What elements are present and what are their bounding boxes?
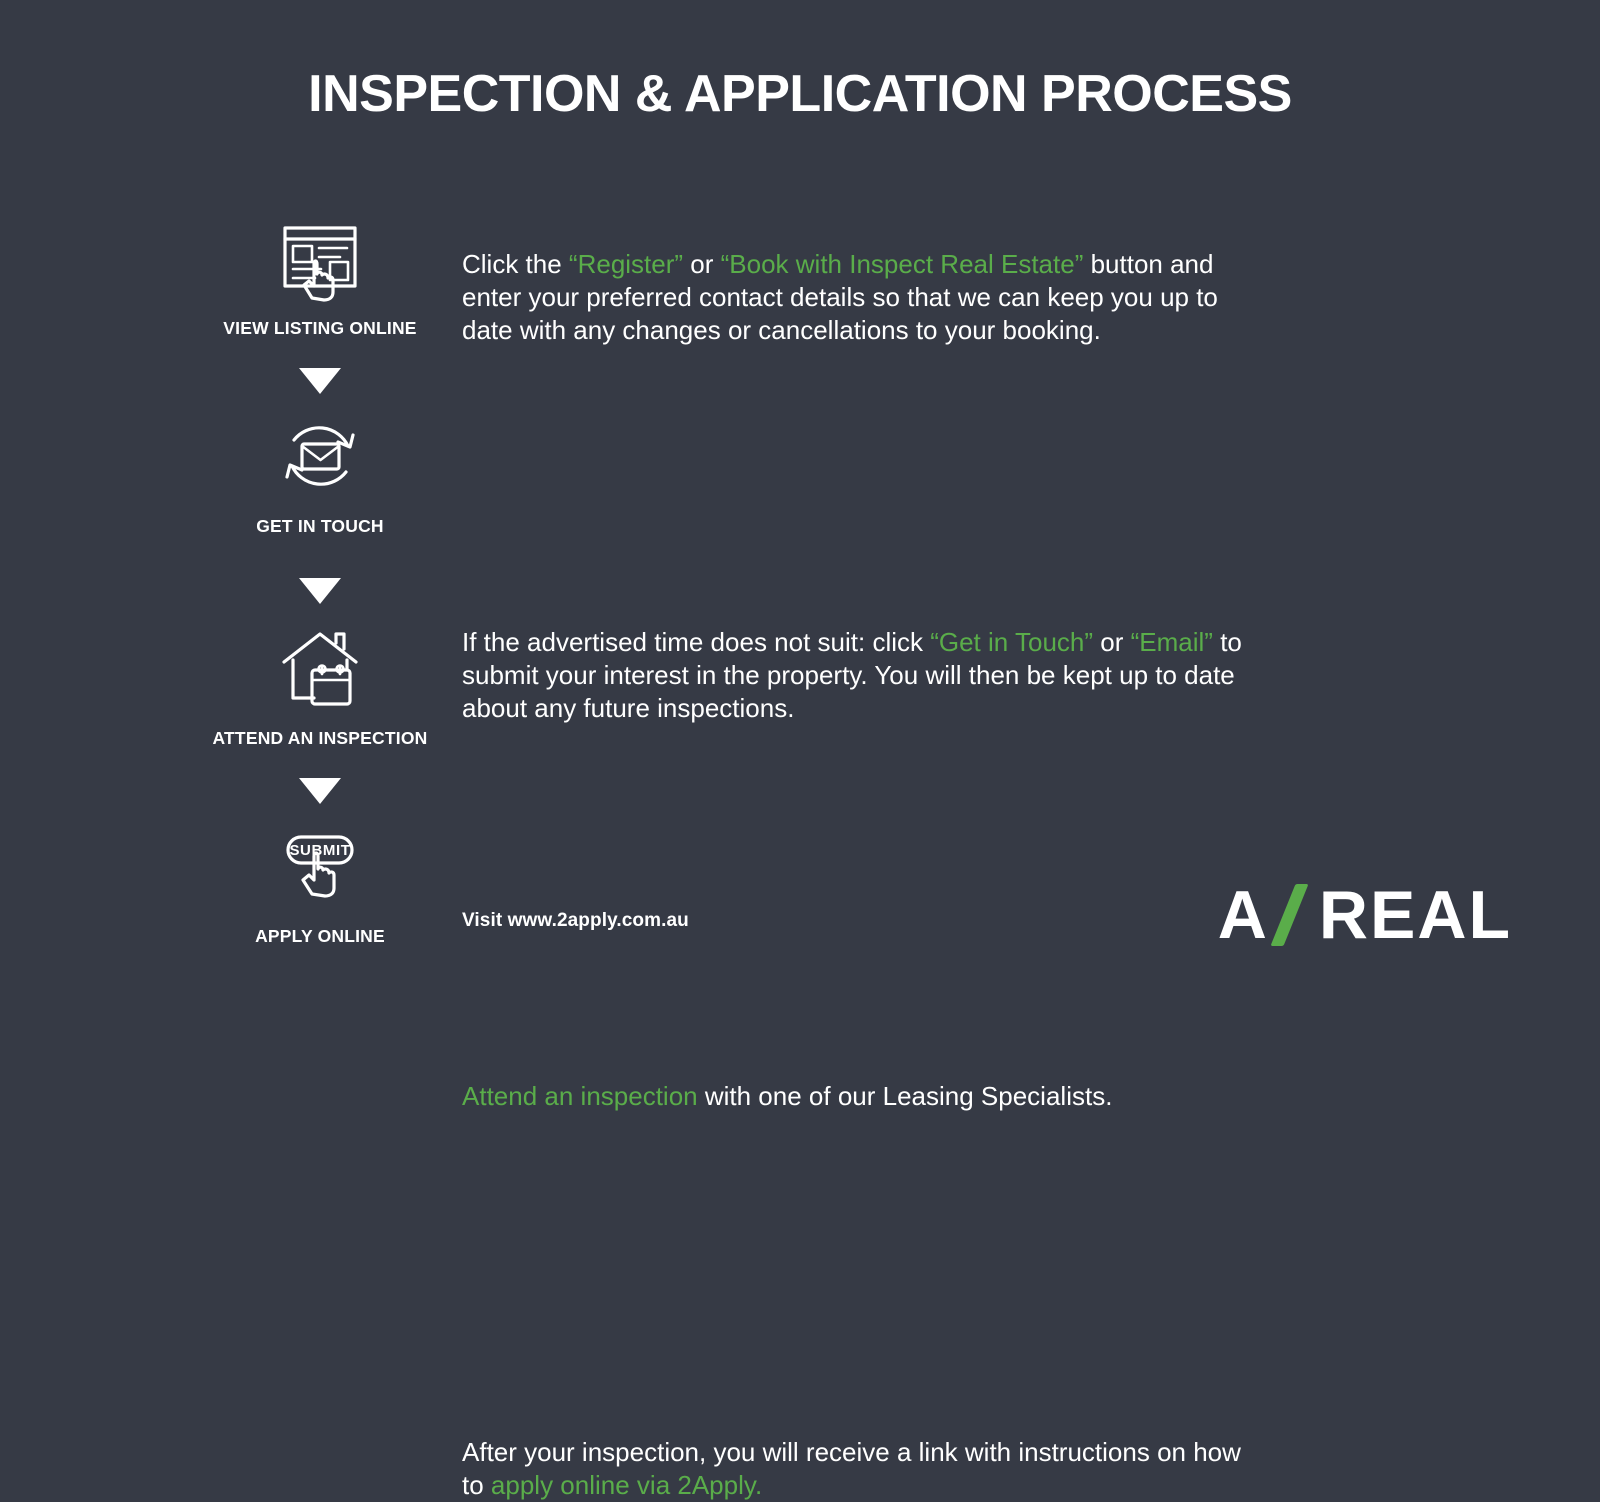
step-description: If the advertised time does not suit: cl… — [462, 626, 1242, 724]
highlight-text: Attend an inspection — [462, 1081, 698, 1111]
logo-letter-a: A — [1218, 876, 1269, 954]
body-text: or — [683, 249, 721, 279]
visit-note: Visit www.2apply.com.au — [462, 910, 689, 932]
listing-page-click-icon — [195, 210, 445, 306]
body-text: Click the — [462, 249, 569, 279]
envelope-refresh-icon — [195, 408, 445, 504]
house-calendar-icon — [195, 620, 445, 716]
slash-icon — [1271, 884, 1317, 946]
arrow-down-icon — [195, 778, 445, 804]
highlight-text: “Book with Inspect Real Estate” — [721, 249, 1084, 279]
body-text: or — [1093, 627, 1131, 657]
brand-logo: A REAL — [1218, 876, 1512, 954]
infographic-page: INSPECTION & APPLICATION PROCESS — [0, 0, 1600, 1066]
step-icon-group: VIEW LISTING ONLINE — [195, 210, 445, 339]
step-description: Click the “Register” or “Book with Inspe… — [462, 248, 1242, 346]
highlight-text: apply online via 2Apply. — [491, 1470, 762, 1500]
step-label: ATTEND AN INSPECTION — [195, 728, 445, 749]
step-description: Attend an inspection with one of our Lea… — [462, 1080, 1242, 1113]
step-label: VIEW LISTING ONLINE — [195, 318, 445, 339]
step-icon-group: GET IN TOUCH — [195, 408, 445, 537]
highlight-text: “Email” — [1131, 627, 1213, 657]
arrow-down-icon — [195, 578, 445, 604]
body-text: with one of our Leasing Specialists. — [698, 1081, 1113, 1111]
step-icon-group: SUBMIT APPLY ONLINE — [195, 818, 445, 947]
submit-icon-label: SUBMIT — [289, 842, 350, 859]
body-text: If the advertised time does not suit: cl… — [462, 627, 930, 657]
highlight-text: “Register” — [569, 249, 683, 279]
submit-button-click-icon: SUBMIT — [195, 818, 445, 914]
step-description: After your inspection, you will receive … — [462, 1436, 1242, 1502]
highlight-text: “Get in Touch” — [930, 627, 1093, 657]
logo-word-real: REAL — [1319, 876, 1512, 954]
step-label: GET IN TOUCH — [195, 516, 445, 537]
arrow-down-icon — [195, 368, 445, 394]
step-icon-group: ATTEND AN INSPECTION — [195, 620, 445, 749]
page-title: INSPECTION & APPLICATION PROCESS — [0, 66, 1600, 123]
step-label: APPLY ONLINE — [195, 926, 445, 947]
